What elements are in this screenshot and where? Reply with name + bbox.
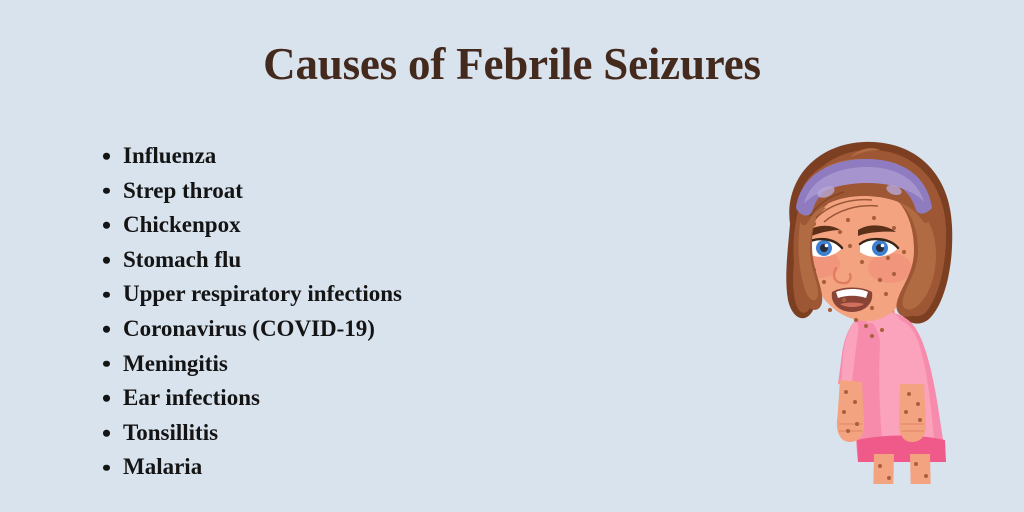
list-item-label: Upper respiratory infections (123, 281, 402, 306)
bullet-icon (103, 291, 110, 298)
right-arm (896, 322, 926, 442)
sick-girl-illustration (754, 128, 1024, 484)
bullet-icon (103, 361, 110, 368)
list-item: Stomach flu (100, 243, 660, 278)
bullet-icon (103, 464, 110, 471)
list-item: Tonsillitis (100, 416, 660, 451)
list-item: Malaria (100, 450, 660, 485)
list-item-label: Strep throat (123, 178, 243, 203)
list-item-label: Coronavirus (COVID-19) (123, 316, 375, 341)
bullet-icon (103, 153, 110, 160)
list-item-label: Tonsillitis (123, 420, 218, 445)
list-item-label: Malaria (123, 454, 202, 479)
list-item-label: Stomach flu (123, 247, 241, 272)
poster-canvas: Causes of Febrile Seizures Influenza Str… (0, 0, 1024, 512)
causes-list: Influenza Strep throat Chickenpox Stomac… (100, 139, 660, 485)
list-item: Ear infections (100, 381, 660, 416)
list-item: Coronavirus (COVID-19) (100, 312, 660, 347)
list-item: Meningitis (100, 347, 660, 382)
page-title: Causes of Febrile Seizures (0, 42, 1024, 87)
list-item-label: Chickenpox (123, 212, 241, 237)
list-item: Chickenpox (100, 208, 660, 243)
bullet-icon (103, 430, 110, 437)
bullet-icon (103, 326, 110, 333)
list-item-label: Ear infections (123, 385, 260, 410)
list-item: Upper respiratory infections (100, 277, 660, 312)
list-item-label: Influenza (123, 143, 216, 168)
list-item: Influenza (100, 139, 660, 174)
bullet-icon (103, 395, 110, 402)
list-item: Strep throat (100, 174, 660, 209)
bullet-icon (103, 188, 110, 195)
list-item-label: Meningitis (123, 351, 228, 376)
bullet-icon (103, 222, 110, 229)
bullet-icon (103, 257, 110, 264)
